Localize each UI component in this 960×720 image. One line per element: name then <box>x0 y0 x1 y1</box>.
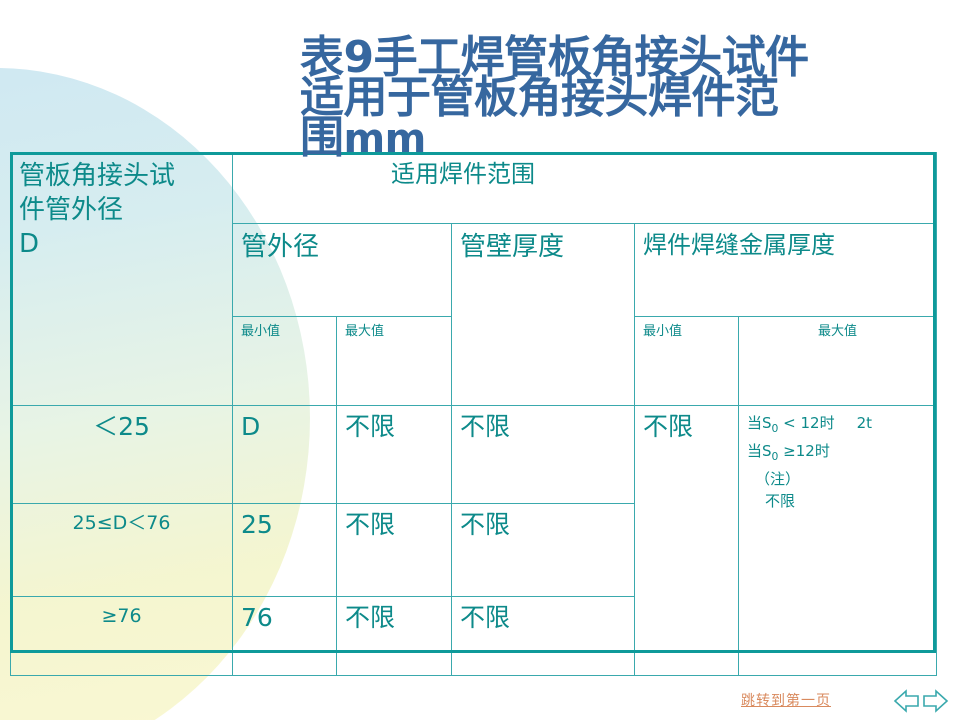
header-specimen-line-1: 管板角接头试 <box>19 159 224 193</box>
header-specimen-line-2: 件管外径 <box>19 193 224 227</box>
header-cell-dia-min: 最小值 <box>233 317 337 406</box>
cell-dia-max-1: 不限 <box>337 406 452 504</box>
cell-dia-min-1: D <box>233 406 337 504</box>
note-line-4: 不限 <box>747 490 928 512</box>
header-specimen-line-3: D <box>19 227 224 261</box>
header-cell-weld-min: 最小值 <box>635 317 739 406</box>
note-line-1-pre: 当S <box>747 414 772 432</box>
cell-dia-min-2: 25 <box>233 504 337 597</box>
cell-specimen-range-2: 25≤D＜76 <box>11 504 233 597</box>
next-arrow-icon[interactable] <box>921 689 949 713</box>
note-line-1-value: 2t <box>835 414 872 432</box>
note-line-2-pre: 当S <box>747 442 772 460</box>
cell-specimen-range-3: ≥76 <box>11 597 233 676</box>
header-applicable-range-label: 适用焊件范围 <box>241 159 535 189</box>
page-title-line-2: 适用于管板角接头焊件范 <box>300 76 940 120</box>
cell-wall-thk-3: 不限 <box>452 597 635 676</box>
cell-weld-max-note: 当S0 < 12时2t 当S0 ≥12时 （注） 不限 <box>739 406 937 676</box>
cell-dia-max-2: 不限 <box>337 504 452 597</box>
spec-table-wrapper: 管板角接头试 件管外径 D 适用焊件范围 管外径 管壁厚度 焊件焊缝金属厚度 最… <box>10 152 936 653</box>
slide-canvas: 表9手工焊管板角接头试件 适用于管板角接头焊件范 围mm 管板角接头试 件管外径… <box>0 0 960 720</box>
cell-dia-min-3: 76 <box>233 597 337 676</box>
table-row: ＜25 D 不限 不限 不限 当S0 < 12时2t 当S0 ≥12时 （注） … <box>11 406 937 504</box>
note-line-2-post: ≥12时 <box>778 442 829 460</box>
note-line-1: 当S0 < 12时2t <box>747 412 928 440</box>
page-title-line-1: 表9手工焊管板角接头试件 <box>300 36 940 80</box>
header-cell-outer-diameter: 管外径 <box>233 224 452 317</box>
cell-dia-max-3: 不限 <box>337 597 452 676</box>
header-cell-wall-thickness: 管壁厚度 <box>452 224 635 406</box>
header-cell-specimen-outer-dia: 管板角接头试 件管外径 D <box>11 153 233 406</box>
prev-arrow-icon[interactable] <box>893 689 921 713</box>
table-header-row-1: 管板角接头试 件管外径 D 适用焊件范围 <box>11 153 937 224</box>
note-line-3: （注） <box>747 468 928 490</box>
slide-navigation <box>893 688 951 714</box>
header-cell-weld-max: 最大值 <box>739 317 937 406</box>
note-line-2: 当S0 ≥12时 <box>747 440 928 468</box>
header-cell-applicable-range: 适用焊件范围 <box>233 153 937 224</box>
spec-table: 管板角接头试 件管外径 D 适用焊件范围 管外径 管壁厚度 焊件焊缝金属厚度 最… <box>10 152 937 676</box>
cell-specimen-range-1: ＜25 <box>11 406 233 504</box>
jump-to-first-page-link[interactable]: 跳转到第一页 <box>741 690 831 710</box>
page-title: 表9手工焊管板角接头试件 适用于管板角接头焊件范 围mm <box>300 36 940 161</box>
note-line-1-post: < 12时 <box>778 414 834 432</box>
header-cell-dia-max: 最大值 <box>337 317 452 406</box>
cell-weld-min-1: 不限 <box>635 406 739 676</box>
header-cell-weld-metal-thickness: 焊件焊缝金属厚度 <box>635 224 937 317</box>
cell-wall-thk-2: 不限 <box>452 504 635 597</box>
cell-wall-thk-1: 不限 <box>452 406 635 504</box>
